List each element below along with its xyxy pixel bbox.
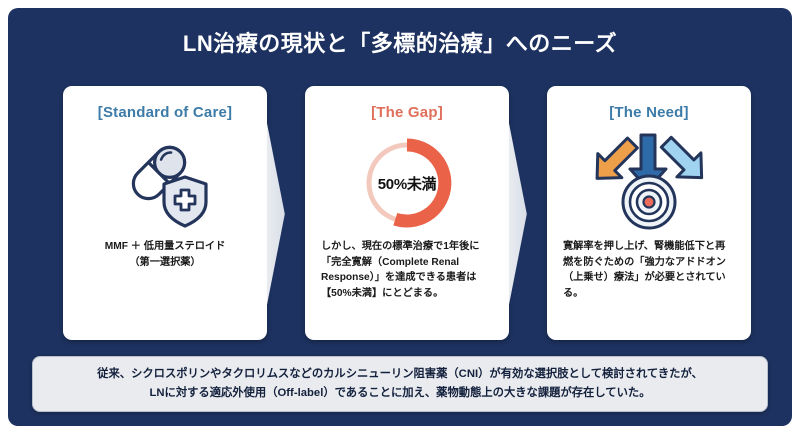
- footnote-line-2: LNに対する適応外使用（Off-label）であることに加え、薬物動態上の大きな…: [149, 384, 650, 403]
- title-bar: LN治療の現状と「多標的治療」へのニーズ: [8, 26, 792, 58]
- card-body-line-1: MMF ＋ 低用量ステロイド: [79, 239, 251, 255]
- slide-panel: LN治療の現状と「多標的治療」へのニーズ [Standard of Care]: [8, 8, 792, 426]
- chevron-connector-1: [264, 108, 304, 320]
- cards-row: [Standard of Care]: [8, 86, 792, 344]
- icon-area-the-need: [557, 127, 741, 239]
- card-body-the-gap: しかし、現在の標準治療で1年後に「完全寛解（Complete Renal Res…: [315, 239, 499, 301]
- card-title-the-need: [The Need]: [557, 104, 741, 121]
- footnote-line-1: 従来、シクロスポリンやタクロリムスなどのカルシニューリン阻害薬（CNI）が有効な…: [97, 365, 703, 384]
- card-body-line-2: （第一選択薬）: [79, 255, 251, 271]
- card-the-need[interactable]: [The Need]: [547, 86, 751, 340]
- card-the-gap[interactable]: [The Gap] 50%未満 しかし、現在の標準治療で1年後に「完全寛解（Co…: [305, 86, 509, 340]
- icon-area-standard-of-care: [73, 127, 257, 239]
- chevron-connector-2: [506, 108, 546, 320]
- capsule-shield-icon: [113, 131, 217, 235]
- donut-center-label: 50%未満: [355, 131, 459, 235]
- donut-chart-icon: 50%未満: [355, 131, 459, 235]
- card-standard-of-care[interactable]: [Standard of Care]: [63, 86, 267, 340]
- footnote-banner: 従来、シクロスポリンやタクロリムスなどのカルシニューリン阻害薬（CNI）が有効な…: [32, 356, 768, 412]
- card-title-the-gap: [The Gap]: [315, 104, 499, 121]
- icon-area-the-gap: 50%未満: [315, 127, 499, 239]
- page-title: LN治療の現状と「多標的治療」へのニーズ: [8, 26, 792, 58]
- card-title-standard-of-care: [Standard of Care]: [73, 104, 257, 121]
- card-body-standard-of-care: MMF ＋ 低用量ステロイド （第一選択薬）: [73, 239, 257, 270]
- card-body-the-need: 寛解率を押し上げ、腎機能低下と再燃を防ぐための「強力なアドドオン（上乗せ）療法」…: [557, 239, 741, 301]
- converging-arrows-target-icon: [593, 131, 705, 235]
